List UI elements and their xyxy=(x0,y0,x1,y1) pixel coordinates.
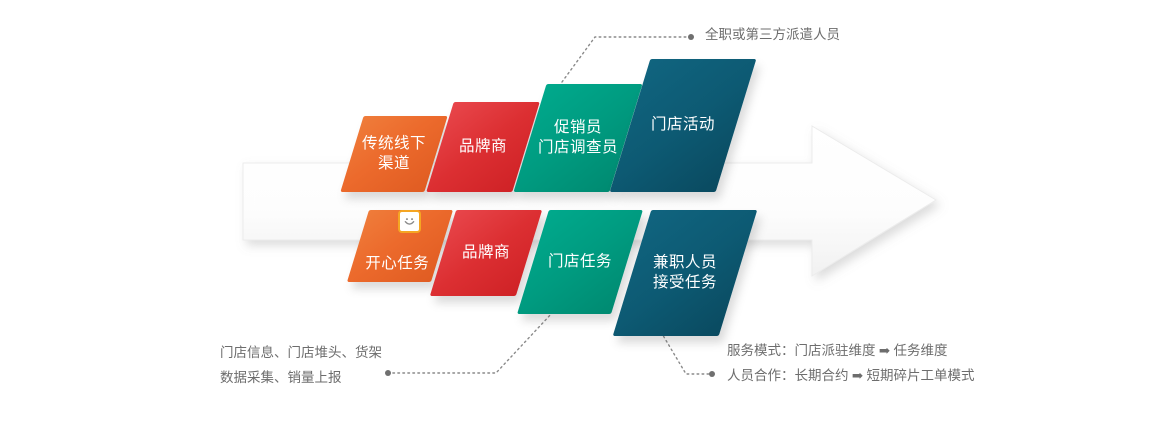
stage-bottom-4-label-2: 接受任务 xyxy=(653,273,717,293)
annotation-dot-bottom-right xyxy=(709,371,715,377)
annotation-bottom-left-line-2: 数据采集、销量上报 xyxy=(220,365,382,390)
stage-bottom-3-label-1: 门店任务 xyxy=(548,252,612,272)
stage-top-1-label-2: 渠道 xyxy=(378,154,410,174)
stage-top-3-label-1: 促销员 xyxy=(554,118,602,138)
connector-bottom-right xyxy=(661,332,709,374)
annotation-dot-top-right xyxy=(688,34,694,40)
stage-top-4[interactable]: 门店活动 xyxy=(610,59,757,192)
connector-bottom-left xyxy=(390,312,553,373)
annotation-top-right: 全职或第三方派遣人员 xyxy=(705,22,840,47)
stage-bottom-2-label-1: 品牌商 xyxy=(462,243,510,263)
annotation-bottom-right: 服务模式：门店派驻维度 ➡ 任务维度 人员合作：长期合约 ➡ 短期碎片工单模式 xyxy=(727,338,975,388)
annotation-bottom-left-line-1: 门店信息、门店堆头、货架 xyxy=(220,340,382,365)
annotation-bottom-right-line-1: 服务模式：门店派驻维度 ➡ 任务维度 xyxy=(727,338,975,363)
diagram-canvas: 传统线下 渠道 品牌商 促销员 门店调查员 门店活动 开心任务 品 xyxy=(0,0,1150,430)
annotation-bottom-left: 门店信息、门店堆头、货架 数据采集、销量上报 xyxy=(220,340,382,390)
annotation-bottom-right-line-2: 人员合作：长期合约 ➡ 短期碎片工单模式 xyxy=(727,363,975,388)
stage-top-1-label-1: 传统线下 xyxy=(362,134,426,154)
stage-top-4-label-1: 门店活动 xyxy=(651,115,715,135)
stage-top-3-label-2: 门店调查员 xyxy=(538,138,618,158)
stage-bottom-4-label-1: 兼职人员 xyxy=(653,253,717,273)
smiley-icon xyxy=(398,210,421,233)
annotation-dot-bottom-left xyxy=(385,370,391,376)
stage-bottom-1-label-1: 开心任务 xyxy=(365,254,429,274)
annotation-top-right-line-1: 全职或第三方派遣人员 xyxy=(705,22,840,47)
stage-bottom-4[interactable]: 兼职人员 接受任务 xyxy=(613,210,758,336)
stage-top-2-label-1: 品牌商 xyxy=(459,137,507,157)
